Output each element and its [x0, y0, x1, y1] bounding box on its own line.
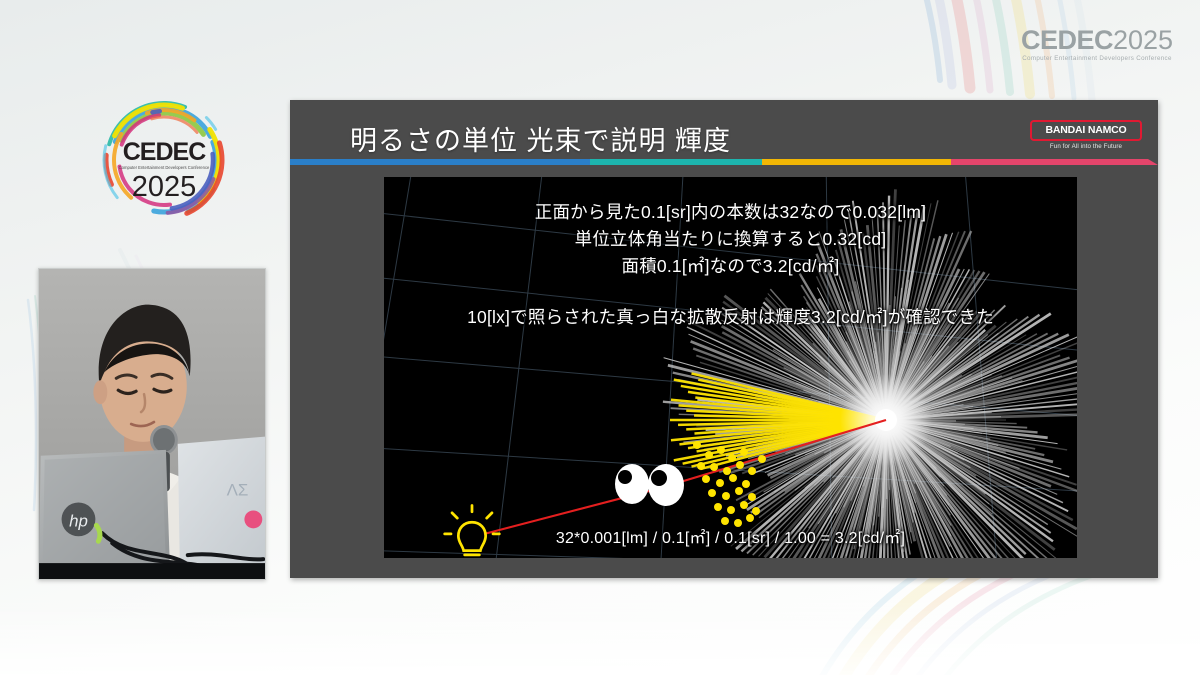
accent-segment-tail	[1148, 159, 1158, 165]
badge-year: 2025	[132, 171, 197, 203]
badge-subtitle: Computer Entertainment Developers Confer…	[119, 165, 210, 170]
presenter-video-frame: hp ΛΣ	[39, 269, 265, 579]
bandai-namco-name: BANDAI NAMCO	[1035, 124, 1137, 136]
hp-logo-text: hp	[69, 511, 88, 530]
cedec-wordmark-main: CEDEC2025	[1016, 26, 1178, 54]
cedec-wordmark-bold: CEDEC	[1021, 25, 1113, 55]
accent-segment-1	[590, 159, 762, 165]
panel-line-2: 単位立体角当たりに換算すると0.32[cd]	[384, 226, 1077, 251]
cedec-wordmark-year: 2025	[1113, 25, 1173, 55]
accent-segment-0	[290, 159, 590, 165]
slide-accent-bar	[290, 159, 1158, 165]
cedec-wordmark-subtitle: Computer Entertainment Developers Confer…	[1016, 54, 1178, 63]
cedec-circular-logo: CEDEC Computer Entertainment Developers …	[96, 98, 232, 222]
accent-segment-3	[951, 159, 1148, 165]
second-laptop: ΛΣ	[178, 436, 265, 567]
slide-title: 明るさの単位 光束で説明 輝度	[350, 119, 731, 158]
presenter-video[interactable]: hp ΛΣ	[38, 268, 266, 580]
presentation-slide: 明るさの単位 光束で説明 輝度 BANDAI NAMCO Fun for All…	[290, 100, 1158, 578]
badge-title: CEDEC	[123, 138, 206, 166]
cedec-logo-graphic: CEDEC Computer Entertainment Developers …	[96, 98, 232, 222]
panel-line-3: 面積0.1[㎡]なので3.2[cd/㎡]	[384, 253, 1077, 278]
panel-highlight-line: 10[lx]で照らされた真っ白な拡散反射は輝度3.2[cd/㎡]が確認できた	[384, 304, 1077, 329]
second-laptop-label: ΛΣ	[227, 481, 249, 500]
bandai-namco-tagline: Fun for All into the Future	[1030, 143, 1142, 150]
bandai-namco-logo: BANDAI NAMCO Fun for All into the Future	[1030, 120, 1142, 150]
panel-text-block: 正面から見た0.1[sr]内の本数は32なので0.032[lm] 単位立体角当た…	[384, 177, 1077, 558]
bandai-namco-logo-box: BANDAI NAMCO	[1030, 120, 1142, 141]
cedec-brand-wordmark: CEDEC2025 Computer Entertainment Develop…	[1016, 26, 1178, 66]
accent-segment-2	[762, 159, 951, 165]
panel-formula: 32*0.001[lm] / 0.1[㎡] / 0.1[sr] / 1.00 =…	[384, 524, 1077, 548]
slide-content-panel: 正面から見た0.1[sr]内の本数は32なので0.032[lm] 単位立体角当た…	[384, 177, 1077, 558]
panel-line-1: 正面から見た0.1[sr]内の本数は32なので0.032[lm]	[384, 199, 1077, 224]
